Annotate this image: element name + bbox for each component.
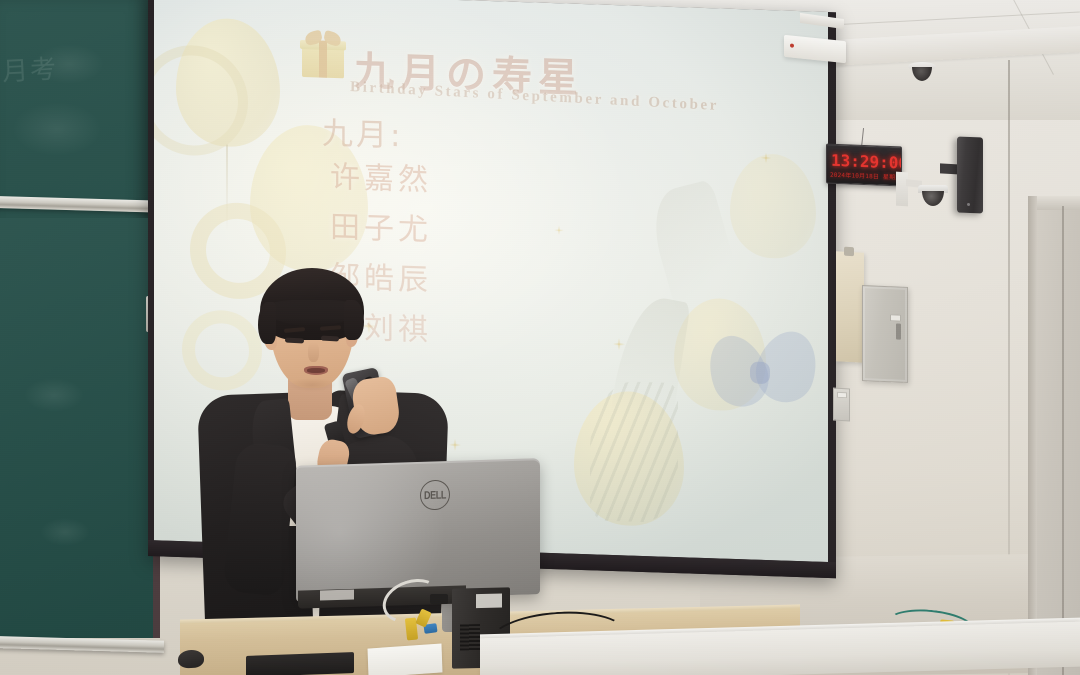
speaker-led <box>967 203 970 206</box>
hair-side-left <box>258 302 276 344</box>
keyboard[interactable] <box>246 652 354 675</box>
switch-button[interactable] <box>837 392 847 399</box>
sparkle-decoration <box>552 223 566 237</box>
chalk-smudge <box>12 102 102 156</box>
nose <box>308 342 319 362</box>
slide-month-label: 九月: <box>322 108 403 156</box>
panel-latch[interactable] <box>896 323 901 339</box>
pc-vent <box>460 624 480 650</box>
sparkle-decoration <box>610 335 628 354</box>
dell-wordmark: DELL <box>424 488 446 501</box>
hair-side-right <box>344 300 364 340</box>
led-clock: 13:29:06 2024年10月18日 星期五 <box>826 144 902 187</box>
chalk-smudge <box>40 518 90 546</box>
monitor-sticker <box>320 589 354 600</box>
list-item: 许嘉然 <box>330 152 432 199</box>
sparkle-decoration <box>758 150 774 167</box>
ceiling-dome-camera <box>908 62 936 82</box>
light-switch[interactable] <box>833 388 850 422</box>
balloon-decoration <box>730 153 816 260</box>
pc-label <box>476 594 502 609</box>
mouth-inner <box>307 368 325 373</box>
balloon-string <box>226 145 228 231</box>
dome-camera <box>918 185 948 207</box>
list-item: 田子尤 <box>330 202 432 249</box>
status-led <box>790 43 794 47</box>
chin-shadow <box>288 378 336 392</box>
classroom-photo: 月考 <box>0 0 1080 675</box>
clip-icon <box>844 247 854 257</box>
ring-decoration <box>154 44 248 158</box>
gift-box-icon <box>302 31 344 78</box>
eye-left <box>285 338 304 344</box>
chalk-smudge <box>24 378 84 412</box>
balloon-decoration <box>176 17 280 148</box>
wall-speaker <box>957 137 983 214</box>
chalk-smudge <box>34 44 104 84</box>
electrical-panel[interactable] <box>862 285 908 383</box>
panel-label <box>890 314 901 321</box>
clock-time: 13:29:06 <box>831 151 898 173</box>
clock-date: 2024年10月18日 星期五 <box>830 170 898 182</box>
door-jamb <box>1028 196 1037 675</box>
chalkboard-lower <box>0 218 160 638</box>
door-shadow <box>1062 206 1064 675</box>
paper-sheet <box>368 643 443 675</box>
leaf-decoration <box>590 380 678 523</box>
eye-right <box>321 336 339 342</box>
notice-board <box>836 251 864 362</box>
camera-wall-plate <box>896 172 908 207</box>
bow-knot <box>750 361 770 384</box>
mouse[interactable] <box>178 650 204 669</box>
